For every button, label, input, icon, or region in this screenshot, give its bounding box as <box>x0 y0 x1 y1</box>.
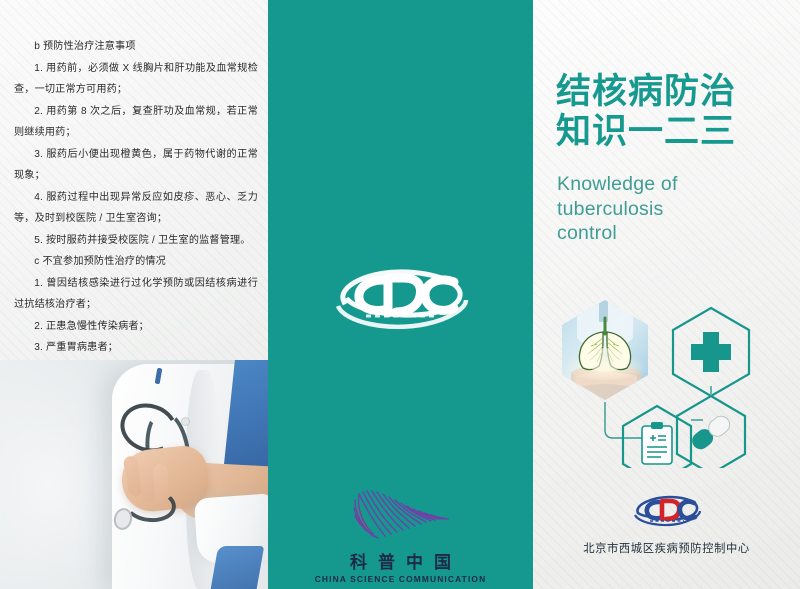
center-panel: 科普中国 CHINA SCIENCE COMMUNICATION <box>268 0 533 589</box>
clipboard-body <box>642 426 672 464</box>
paragraph-item-1: 1. 用药前，必须做 X 线胸片和肝功能及血常规检查，一切正常方可用药； <box>14 58 258 101</box>
pill-capsule-hexagon <box>677 396 745 468</box>
paragraph-c-item-3: 3. 严重胃病患者； <box>14 337 258 359</box>
clipboard-hexagon <box>623 406 691 468</box>
title-en-line-2: tuberculosis <box>557 197 777 222</box>
title-en-line-3: control <box>557 221 777 246</box>
left-panel-body-text: b 预防性治疗注意事项 1. 用药前，必须做 X 线胸片和肝功能及血常规检查，一… <box>14 36 258 380</box>
kepu-china-logo: 科普中国 CHINA SCIENCE COMMUNICATION <box>306 484 496 584</box>
capsule-icon <box>689 413 733 453</box>
coat-button <box>182 418 189 425</box>
paragraph-item-3: 3. 服药后小便出现橙黄色，属于药物代谢的正常现象； <box>14 144 258 187</box>
organization-block: 北京市西城区疾病预防控制中心 <box>533 492 800 556</box>
title-cn-line-1: 结核病防治 <box>556 72 786 112</box>
page-title-chinese: 结核病防治 知识一二三 <box>556 72 786 152</box>
paragraph-heading-c: c 不宜参加预防性治疗的情况 <box>14 251 258 273</box>
paragraph-item-5: 5. 按时服药并接受校医院 / 卫生室的监督管理。 <box>14 230 258 252</box>
kepu-english-text: CHINA SCIENCE COMMUNICATION <box>306 574 496 584</box>
organization-name: 北京市西城区疾病预防控制中心 <box>533 540 800 556</box>
title-cn-line-2: 知识一二三 <box>556 112 786 152</box>
clipboard-clip <box>651 422 663 429</box>
blue-scrubs-lower <box>210 546 264 589</box>
left-panel: b 预防性治疗注意事项 1. 用药前，必须做 X 线胸片和肝功能及血常规检查，一… <box>0 0 268 589</box>
page-title-english: Knowledge of tuberculosis control <box>557 172 777 246</box>
medical-cross-hexagon <box>673 308 749 396</box>
paragraph-heading-b: b 预防性治疗注意事项 <box>14 36 258 58</box>
cross-icon <box>691 332 731 372</box>
paragraph-item-2: 2. 用药第 8 次之后，复查肝功及血常规，若正常则继续用药； <box>14 101 258 144</box>
right-panel: 结核病防治 知识一二三 Knowledge of tuberculosis co… <box>533 0 800 589</box>
kepu-chinese-text: 科普中国 <box>306 548 496 573</box>
kepu-fan-icon <box>333 484 469 546</box>
paragraph-c-item-2: 2. 正患急慢性传染病者； <box>14 316 258 338</box>
lungs-photo-hexagon <box>561 300 649 400</box>
paragraph-c-item-1: 1. 曾因结核感染进行过化学预防或因结核病进行过抗结核治疗者； <box>14 273 258 316</box>
cdc-logo-color <box>632 492 702 530</box>
paragraph-item-4: 4. 服药过程中出现异常反应如皮疹、恶心、乏力等，及时到校医院 / 卫生室咨询； <box>14 187 258 230</box>
title-en-line-1: Knowledge of <box>557 172 777 197</box>
medical-icon-cluster <box>553 298 793 468</box>
cdc-logo-white <box>326 258 476 342</box>
doctor-photo <box>0 360 268 589</box>
connector-line-1 <box>605 402 645 438</box>
brochure-page: b 预防性治疗注意事项 1. 用药前，必须做 X 线胸片和肝功能及血常规检查，一… <box>0 0 800 589</box>
